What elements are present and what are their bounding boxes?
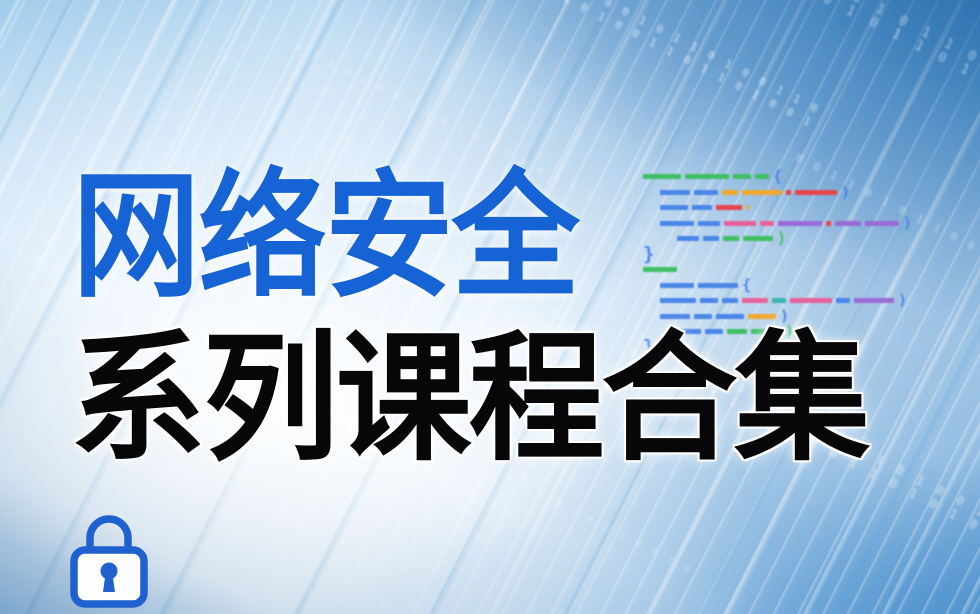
code-punctuation: ) — [841, 190, 850, 195]
code-token — [836, 298, 850, 303]
code-token — [723, 236, 739, 241]
binary-digits-field: 1 0 1 1 0 0 1 0 1 1 0 1 0 0 1 1 0 0 1 1 … — [526, 0, 823, 131]
code-token — [698, 221, 720, 226]
code-token — [854, 298, 894, 303]
binary-digits-field: 0 1 0 0 1 1 0 1 0 1 1 0 0 1 0 1 1 0 1 0 … — [706, 0, 980, 116]
code-token — [746, 205, 749, 210]
code-token — [826, 221, 831, 226]
code-line: ) — [643, 217, 943, 233]
code-token — [643, 174, 681, 179]
code-token — [772, 298, 786, 303]
code-token — [742, 190, 782, 195]
code-line: ) — [643, 232, 943, 248]
code-token — [786, 190, 791, 195]
code-punctuation: ) — [898, 298, 907, 303]
code-token — [743, 236, 773, 241]
code-token — [660, 205, 688, 210]
poster-canvas: 1 0 1 1 0 0 1 0 1 1 0 1 0 0 1 1 0 0 1 1 … — [0, 0, 980, 614]
code-line: { — [643, 170, 943, 186]
code-token — [660, 190, 690, 195]
code-token — [716, 205, 742, 210]
code-token — [760, 221, 774, 226]
lock-icon — [66, 508, 152, 608]
code-token — [698, 283, 738, 288]
code-token — [724, 221, 756, 226]
code-token — [835, 221, 861, 226]
code-token — [755, 174, 769, 179]
code-line — [643, 263, 943, 279]
code-line — [643, 201, 943, 217]
code-line: } — [643, 248, 943, 264]
code-token — [778, 221, 822, 226]
code-token — [865, 221, 899, 226]
code-token — [660, 283, 694, 288]
code-punctuation: { — [742, 283, 751, 288]
code-token — [790, 298, 832, 303]
code-token — [660, 221, 694, 226]
code-punctuation: ) — [903, 221, 912, 226]
code-token — [677, 236, 699, 241]
poster-subheadline: 系列课程合集 — [70, 330, 867, 470]
code-line: ) — [643, 186, 943, 202]
code-punctuation: } — [643, 252, 654, 257]
code-token — [700, 298, 718, 303]
code-token — [742, 298, 768, 303]
code-punctuation: ) — [777, 236, 786, 241]
code-token — [733, 174, 751, 179]
code-token — [722, 298, 738, 303]
code-token — [795, 190, 837, 195]
code-token — [692, 205, 712, 210]
code-token — [722, 190, 738, 195]
poster-headline: 网络安全 — [72, 168, 578, 306]
code-punctuation: { — [773, 174, 782, 179]
code-token — [660, 298, 696, 303]
code-token — [685, 174, 729, 179]
code-line: ) — [643, 294, 943, 310]
code-token — [703, 236, 719, 241]
code-token — [694, 190, 718, 195]
code-token — [643, 267, 677, 272]
